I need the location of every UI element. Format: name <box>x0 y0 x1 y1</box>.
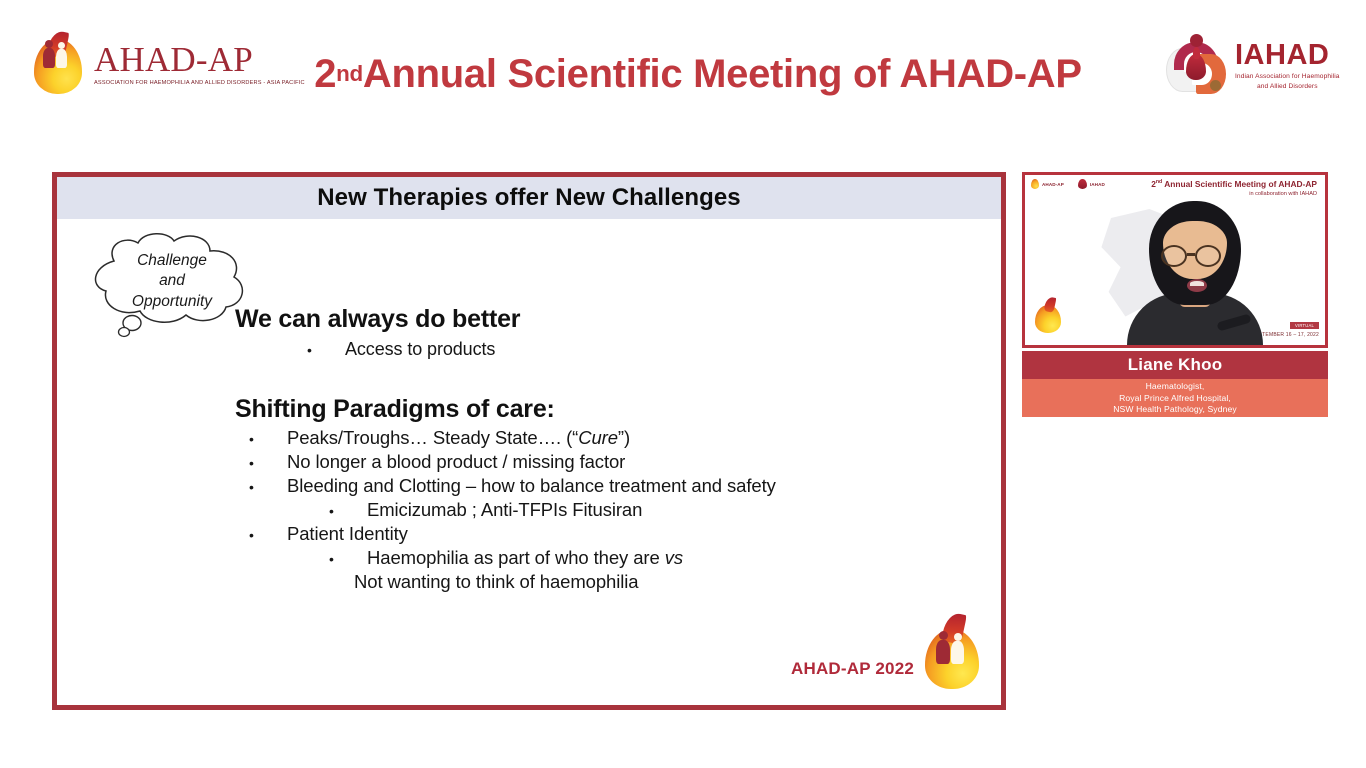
bullet-marker <box>249 475 287 497</box>
bullet-peaks-troughs: Peaks/Troughs… Steady State…. (“Cure”) <box>249 427 630 449</box>
speaker-name: Liane Khoo <box>1128 355 1223 375</box>
iahad-logo: IAHAD Indian Association for Haemophilia… <box>1166 28 1346 102</box>
speaker-figure <box>1133 195 1257 345</box>
iahad-people-drop-icon <box>1166 34 1228 96</box>
video-banner-title-main: 2nd Annual Scientific Meeting of AHAD-AP <box>1151 179 1317 189</box>
page-title-rest: Annual Scientific Meeting of AHAD-AP <box>363 52 1082 97</box>
video-banner-ahad-label: AHAD-AP <box>1042 182 1064 187</box>
bullet-haemophilia-identity: Haemophilia as part of who they are vs <box>329 547 683 569</box>
page-header: AHAD-AP ASSOCIATION FOR HAEMOPHILIA AND … <box>0 0 1366 128</box>
bullet-bleeding-label: Bleeding and Clotting – how to balance t… <box>287 475 776 496</box>
video-banner-title-rest: Annual Scientific Meeting of AHAD-AP <box>1162 179 1317 189</box>
bullet-peaks-pre: Peaks/Troughs… Steady State…. (“ <box>287 427 578 448</box>
video-feed[interactable]: AHAD-AP IAHAD 2nd Annual Scientific Meet… <box>1022 172 1328 348</box>
bullet-patient-identity: Patient Identity <box>249 523 408 545</box>
bullet-marker <box>329 547 367 569</box>
bullet-not-wanting-label: Not wanting to think of haemophilia <box>354 571 638 592</box>
bullet-peaks-italic: Cure <box>578 427 618 448</box>
slide-title-bar: New Therapies offer New Challenges <box>57 177 1001 219</box>
bullet-emicizumab: Emicizumab ; Anti-TFPIs Fitusiran <box>329 499 642 521</box>
slide-footer: AHAD-AP 2022 <box>791 611 987 697</box>
speaker-nameplate: Liane Khoo Haematologist, Royal Prince A… <box>1022 351 1328 417</box>
bullet-marker <box>249 427 287 449</box>
page-title: 2nd Annual Scientific Meeting of AHAD-AP <box>258 47 1138 101</box>
bullet-access-to-products: Access to products <box>307 339 495 360</box>
blood-drop-icon <box>1033 297 1063 333</box>
video-banner-iahad-logo: IAHAD <box>1078 179 1105 189</box>
bullet-emicizumab-label: Emicizumab ; Anti-TFPIs Fitusiran <box>367 499 642 520</box>
video-banner-date-tag: VIRTUAL <box>1290 322 1319 329</box>
blood-drop-family-icon <box>28 31 88 97</box>
bullet-patient-identity-label: Patient Identity <box>287 523 408 544</box>
bullet-peaks-post: ”) <box>618 427 630 448</box>
slide-title: New Therapies offer New Challenges <box>317 184 741 212</box>
speaker-role-bar: Haematologist, Royal Prince Alfred Hospi… <box>1022 379 1328 417</box>
speaker-role-line-1: Haematologist, <box>1146 381 1205 392</box>
bullet-haemophilia-pre: Haemophilia as part of who they are <box>367 547 665 568</box>
blood-drop-icon <box>1031 179 1039 189</box>
bullet-not-wanting: Not wanting to think of haemophilia <box>354 571 638 593</box>
bullet-bleeding-and-clotting: Bleeding and Clotting – how to balance t… <box>249 475 776 497</box>
iahad-drop-icon <box>1078 179 1087 189</box>
slide-footer-text: AHAD-AP 2022 <box>791 659 914 679</box>
speaker-role-line-3: NSW Health Pathology, Sydney <box>1113 404 1237 415</box>
iahad-logo-name: IAHAD <box>1235 41 1340 70</box>
bullet-marker <box>249 523 287 545</box>
page-title-prefix: 2 <box>314 52 336 97</box>
bullet-marker <box>307 339 345 360</box>
video-banner-logos: AHAD-AP IAHAD <box>1031 179 1105 189</box>
bullet-access-label: Access to products <box>345 339 495 359</box>
webinar-screen: AHAD-AP ASSOCIATION FOR HAEMOPHILIA AND … <box>0 0 1366 768</box>
speaker-video-panel[interactable]: AHAD-AP IAHAD 2nd Annual Scientific Meet… <box>1022 172 1328 417</box>
presentation-slide[interactable]: New Therapies offer New Challenges Chall… <box>52 172 1006 710</box>
bullet-marker <box>329 499 367 521</box>
bullet-marker <box>249 451 287 473</box>
iahad-logo-subtitle-line1: Indian Association for Haemophilia <box>1235 73 1340 80</box>
bullet-no-longer-label: No longer a blood product / missing fact… <box>287 451 625 472</box>
slide-heading-1: We can always do better <box>235 305 520 334</box>
video-banner-iahad-label: IAHAD <box>1090 182 1105 187</box>
bullet-haemophilia-vs: vs <box>665 547 683 568</box>
iahad-logo-subtitle-line2: and Allied Disorders <box>1235 83 1340 90</box>
video-banner-ahad-logo: AHAD-AP <box>1031 179 1064 189</box>
speaker-name-bar: Liane Khoo <box>1022 351 1328 379</box>
speaker-role-line-2: Royal Prince Alfred Hospital, <box>1119 393 1231 404</box>
bullet-no-longer-blood-product: No longer a blood product / missing fact… <box>249 451 625 473</box>
ahad-ap-logo: AHAD-AP ASSOCIATION FOR HAEMOPHILIA AND … <box>28 28 246 100</box>
slide-heading-2: Shifting Paradigms of care: <box>235 395 555 424</box>
glasses-icon <box>1161 245 1187 267</box>
blood-drop-family-icon <box>919 613 981 693</box>
